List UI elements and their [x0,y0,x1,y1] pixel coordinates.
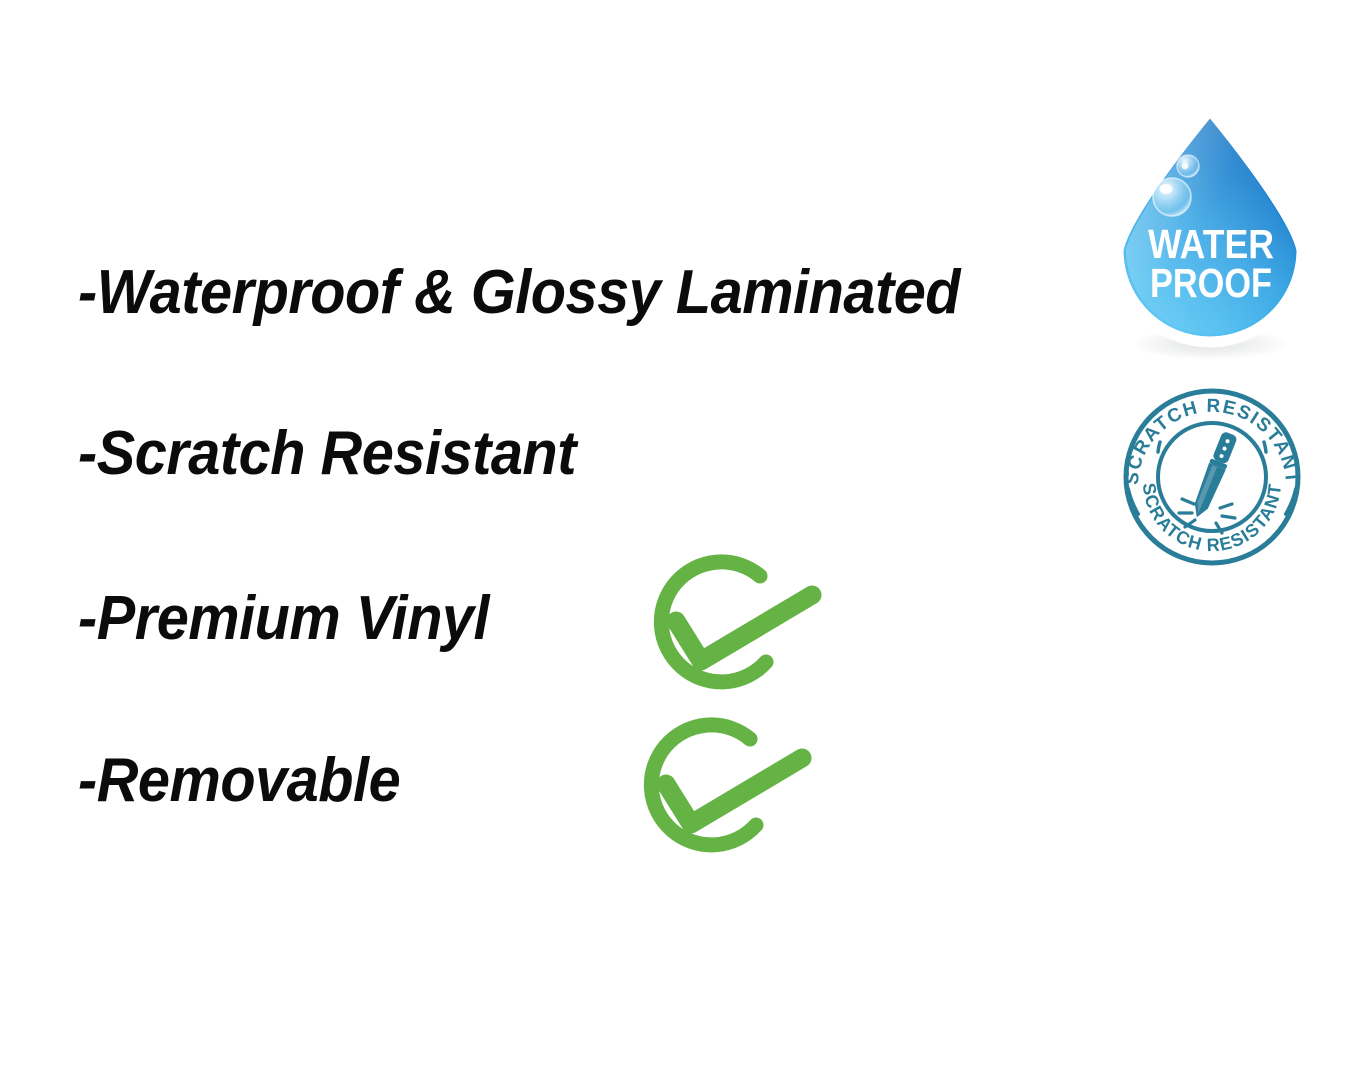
feature-label-premium-vinyl: -Premium Vinyl [78,588,489,650]
check-tick-stroke [676,595,812,661]
water-bubble-large-icon [1153,178,1191,216]
scratch-resistant-stamp-badge: SCRATCH RESISTANT SCRATCH RESISTANT [1112,386,1312,568]
feature-row-waterproof: -Waterproof & Glossy Laminated [78,262,1026,324]
green-check-icon-premium-vinyl [638,553,838,713]
feature-label-waterproof: -Waterproof & Glossy Laminated [78,262,960,324]
check-tick-stroke [666,758,802,824]
feature-list: -Waterproof & Glossy Laminated -Scratch … [0,0,1100,1080]
waterproof-text-line2: PROOF [1150,260,1272,306]
water-bubble-large-highlight [1160,184,1173,194]
feature-label-removable: -Removable [78,750,400,812]
water-bubble-small-highlight [1182,163,1189,170]
feature-row-removable: -Removable [78,750,424,812]
waterproof-droplet-badge: WATER PROOF [1098,104,1324,364]
knife-blade [1188,463,1225,521]
knife-icon [1188,430,1238,520]
stamp-tick-right [1264,442,1266,452]
stamp-tick-left [1158,442,1160,452]
feature-row-scratch-resistant: -Scratch Resistant [78,423,613,485]
feature-label-scratch-resistant: -Scratch Resistant [78,423,576,485]
green-check-icon-removable [628,716,828,876]
product-feature-graphic: -Waterproof & Glossy Laminated -Scratch … [0,0,1359,1080]
feature-row-premium-vinyl: -Premium Vinyl [78,588,520,650]
